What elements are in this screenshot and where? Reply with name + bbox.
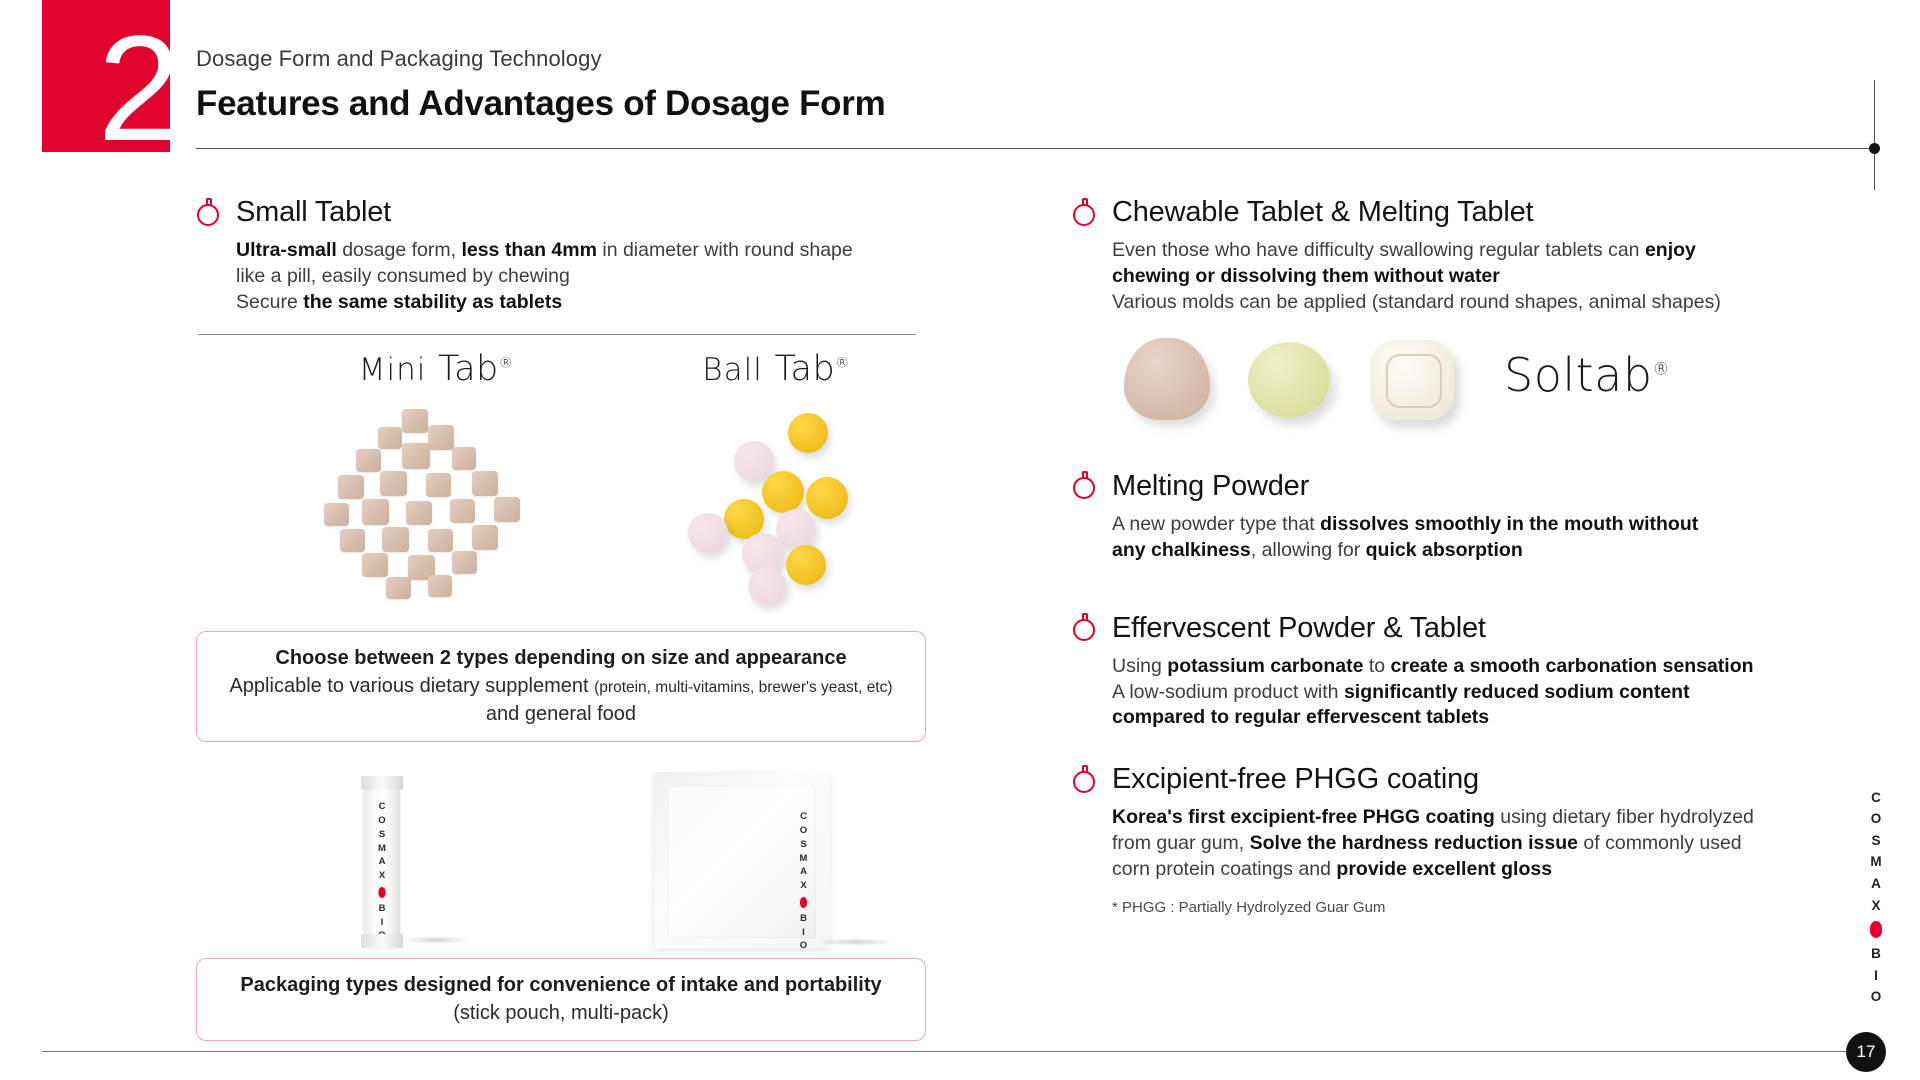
- brand-letter: A: [1871, 873, 1881, 895]
- section-chewable-melting-tablet: Chewable Tablet & Melting Tablet Even th…: [1072, 196, 1832, 442]
- brand-letter: C: [800, 810, 807, 824]
- product-mini-tab: Mini Tab®: [286, 349, 586, 595]
- body-line-1: A new powder type that dissolves smoothl…: [1112, 512, 1832, 538]
- soltab-brand-name: Soltab: [1504, 348, 1653, 402]
- brand-letter: C: [379, 800, 386, 814]
- registered-mark-icon: ®: [835, 356, 850, 372]
- brand-letter: S: [379, 828, 385, 842]
- brand-letter: M: [378, 842, 386, 856]
- brand-letter: A: [379, 855, 386, 869]
- section-heading-chewable: Chewable Tablet & Melting Tablet: [1072, 196, 1832, 229]
- section-title: Small Tablet: [236, 196, 391, 229]
- body-line-1: Ultra-small dosage form, less than 4mm i…: [236, 238, 926, 264]
- section-number-block: 2: [42, 0, 170, 152]
- callout-choose-types: Choose between 2 types depending on size…: [196, 631, 926, 742]
- packaging-image-row: C O S M A X B I O C O S: [196, 768, 926, 958]
- right-column: Chewable Tablet & Melting Tablet Even th…: [1072, 196, 1832, 916]
- section-heading-effervescent: Effervescent Powder & Tablet: [1072, 612, 1832, 645]
- brand-letter: O: [800, 939, 807, 953]
- registered-mark-icon: ®: [1653, 359, 1671, 379]
- side-brand-cosmax-bio: C O S M A X B I O: [1870, 787, 1882, 1008]
- brand-name-bold: Tab: [774, 349, 835, 389]
- callout-packaging-types: Packaging types designed for convenience…: [196, 958, 926, 1041]
- stick-pouch-shadow: [400, 936, 472, 944]
- sachet-brand-label: C O S M A X B I O: [799, 810, 808, 953]
- section-melting-powder: Melting Powder A new powder type that di…: [1072, 470, 1832, 564]
- header-marker-dot-icon: [1869, 143, 1880, 154]
- page-title: Features and Advantages of Dosage Form: [196, 84, 885, 124]
- brand-letter: X: [379, 869, 385, 883]
- mini-tab-pile-image: [316, 405, 556, 595]
- section-effervescent: Effervescent Powder & Tablet Using potas…: [1072, 612, 1832, 732]
- callout-line-1: Choose between 2 types depending on size…: [215, 645, 907, 672]
- multi-pack-sachet-image: C O S M A X B I O: [654, 772, 830, 948]
- body-line-1: Korea's first excipient-free PHGG coatin…: [1112, 805, 1832, 831]
- section-body-melting-powder: A new powder type that dissolves smoothl…: [1112, 512, 1832, 564]
- soltab-product-row: Soltab®: [1112, 332, 1832, 442]
- section-heading-phgg: Excipient-free PHGG coating: [1072, 763, 1832, 796]
- body-line-3: Secure the same stability as tablets: [236, 290, 926, 316]
- cosmax-logo-mark-icon: [1870, 921, 1882, 938]
- body-line-2: chewing or dissolving them without water: [1112, 264, 1832, 290]
- brand-letter: O: [378, 929, 385, 943]
- sachet-inner-panel: [668, 786, 816, 938]
- callout2-line-2: (stick pouch, multi-pack): [215, 999, 907, 1027]
- section-heading-small-tablet: Small Tablet: [196, 196, 926, 229]
- rounded-triangle-tablet-image: [1124, 338, 1210, 420]
- header-divider: [196, 148, 1876, 149]
- header-vertical-line: [1874, 80, 1875, 190]
- section-number: 2: [98, 30, 178, 147]
- left-thin-divider: [198, 334, 916, 336]
- red-circle-bullet-icon: [1072, 765, 1098, 795]
- section-heading-melting-powder: Melting Powder: [1072, 470, 1832, 503]
- brand-letter: O: [378, 814, 385, 828]
- brand-letter: A: [800, 865, 807, 879]
- section-body-chewable: Even those who have difficulty swallowin…: [1112, 238, 1832, 316]
- section-title: Excipient-free PHGG coating: [1112, 763, 1479, 796]
- brand-letter: S: [1871, 830, 1880, 852]
- callout2-line-1: Packaging types designed for convenience…: [215, 972, 907, 999]
- callout-line-3: and general food: [215, 700, 907, 728]
- soltab-brand-logo: Soltab®: [1504, 348, 1670, 402]
- red-circle-bullet-icon: [196, 198, 222, 228]
- stick-pouch-image: C O S M A X B I O: [364, 778, 400, 946]
- section-phgg-coating: Excipient-free PHGG coating Korea's firs…: [1072, 763, 1832, 916]
- section-title: Chewable Tablet & Melting Tablet: [1112, 196, 1533, 229]
- body-line-3: compared to regular effervescent tablets: [1112, 705, 1832, 731]
- footer-divider: [42, 1051, 1876, 1052]
- phgg-footnote: * PHGG : Partially Hydrolyzed Guar Gum: [1112, 899, 1832, 916]
- body-line-1: Using potassium carbonate to create a sm…: [1112, 654, 1832, 680]
- brand-letter: B: [379, 902, 386, 916]
- cosmax-logo-mark-icon: [378, 886, 387, 899]
- stick-pouch-brand-label: C O S M A X B I O: [378, 800, 387, 943]
- slide-root: 2 Dosage Form and Packaging Technology F…: [0, 0, 1920, 1080]
- cosmax-logo-mark-icon: [799, 896, 808, 909]
- brand-letter: B: [800, 912, 807, 926]
- section-title: Melting Powder: [1112, 470, 1309, 503]
- left-column: Small Tablet Ultra-small dosage form, le…: [196, 196, 926, 1041]
- body-line-2: A low-sodium product with significantly …: [1112, 680, 1832, 706]
- product-brand-mini-tab: Mini Tab®: [286, 349, 586, 389]
- product-showcase-row: Mini Tab®: [196, 349, 926, 625]
- body-line-3: Various molds can be applied (standard r…: [1112, 290, 1832, 316]
- registered-mark-icon: ®: [499, 356, 514, 372]
- brand-letter: O: [800, 824, 807, 838]
- round-green-tablet-image: [1248, 342, 1330, 418]
- section-body-small-tablet: Ultra-small dosage form, less than 4mm i…: [236, 238, 926, 316]
- callout-line-2-main: Applicable to various dietary supplement: [229, 675, 594, 697]
- callout-line-2: Applicable to various dietary supplement…: [215, 672, 907, 700]
- product-brand-ball-tab: Ball Tab®: [626, 349, 926, 389]
- brand-name-bold: Tab: [438, 349, 499, 389]
- body-line-2: like a pill, easily consumed by chewing: [236, 264, 926, 290]
- body-line-3: corn protein coatings and provide excell…: [1112, 857, 1832, 883]
- callout-line-2-note: (protein, multi-vitamins, brewer's yeast…: [594, 679, 892, 696]
- brand-letter: O: [1871, 986, 1882, 1008]
- section-body-effervescent: Using potassium carbonate to create a sm…: [1112, 654, 1832, 732]
- brand-name-light: Mini: [359, 352, 427, 388]
- section-body-phgg: Korea's first excipient-free PHGG coatin…: [1112, 805, 1832, 883]
- header-kicker: Dosage Form and Packaging Technology: [196, 46, 885, 72]
- brand-letter: X: [800, 879, 806, 893]
- header-text: Dosage Form and Packaging Technology Fea…: [196, 46, 885, 124]
- brand-letter: M: [800, 852, 808, 866]
- red-circle-bullet-icon: [1072, 613, 1098, 643]
- molded-animal-tablet-image: [1370, 340, 1454, 420]
- brand-letter: I: [1874, 965, 1878, 987]
- brand-letter: B: [1871, 943, 1881, 965]
- body-line-1: Even those who have difficulty swallowin…: [1112, 238, 1832, 264]
- product-ball-tab: Ball Tab®: [626, 349, 926, 595]
- red-circle-bullet-icon: [1072, 471, 1098, 501]
- ball-tab-pile-image: [666, 405, 886, 595]
- brand-letter: M: [1870, 851, 1881, 873]
- brand-letter: I: [802, 926, 805, 940]
- body-line-2: any chalkiness, allowing for quick absor…: [1112, 538, 1832, 564]
- brand-letter: S: [800, 838, 806, 852]
- section-small-tablet: Small Tablet Ultra-small dosage form, le…: [196, 196, 926, 316]
- page-number-badge: 17: [1846, 1032, 1886, 1072]
- brand-letter: O: [1871, 808, 1882, 830]
- brand-letter: C: [1871, 787, 1881, 809]
- red-circle-bullet-icon: [1072, 198, 1098, 228]
- brand-letter: I: [381, 916, 384, 930]
- section-title: Effervescent Powder & Tablet: [1112, 612, 1486, 645]
- brand-name-light: Ball: [702, 352, 763, 388]
- brand-letter: X: [1871, 895, 1880, 917]
- body-line-2: from guar gum, Solve the hardness reduct…: [1112, 831, 1832, 857]
